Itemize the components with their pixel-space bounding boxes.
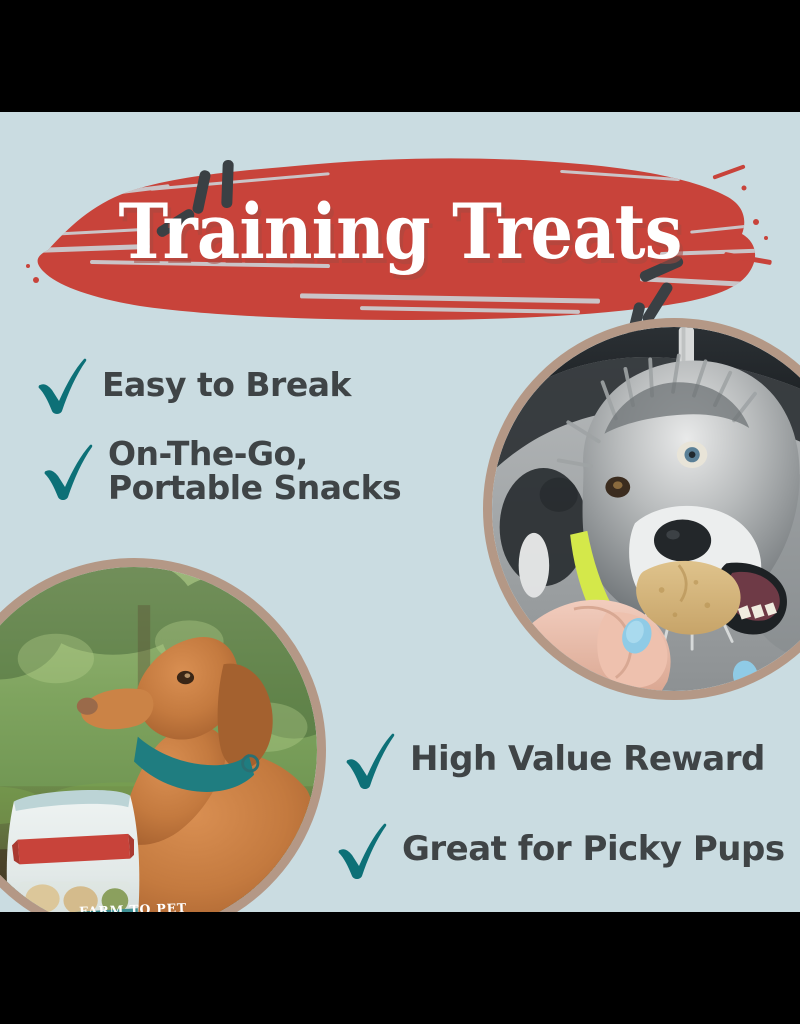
photo-inner <box>492 327 800 691</box>
check-icon <box>342 730 396 790</box>
letterbox-bar-top <box>0 0 800 112</box>
poster-canvas: Training Treats <box>0 112 800 912</box>
photo-vizsla-with-package: FARM TO PET Fish Chips <box>0 558 326 912</box>
feature-item-high-value-reward: High Value Reward <box>342 730 765 790</box>
dog-in-car-photo-illustration <box>492 327 800 691</box>
check-icon <box>34 355 88 415</box>
feature-item-picky-pups: Great for Picky Pups <box>334 820 785 880</box>
feature-item-on-the-go: On-The-Go, Portable Snacks <box>40 437 401 506</box>
poster: Training Treats <box>0 0 800 1024</box>
feature-label: High Value Reward <box>410 742 765 777</box>
letterbox-bar-bottom <box>0 912 800 1024</box>
check-icon <box>40 441 94 501</box>
page-title: Training Treats <box>48 194 752 270</box>
vizsla-photo-illustration <box>0 567 317 912</box>
feature-item-easy-to-break: Easy to Break <box>34 355 351 415</box>
feature-label: On-The-Go, Portable Snacks <box>108 437 401 506</box>
feature-label: Easy to Break <box>102 368 351 402</box>
check-icon <box>334 820 388 880</box>
photo-dog-in-car <box>483 318 800 700</box>
feature-label: Great for Picky Pups <box>402 832 785 867</box>
photo-inner: FARM TO PET Fish Chips <box>0 567 317 912</box>
title-banner: Training Treats <box>0 130 800 340</box>
